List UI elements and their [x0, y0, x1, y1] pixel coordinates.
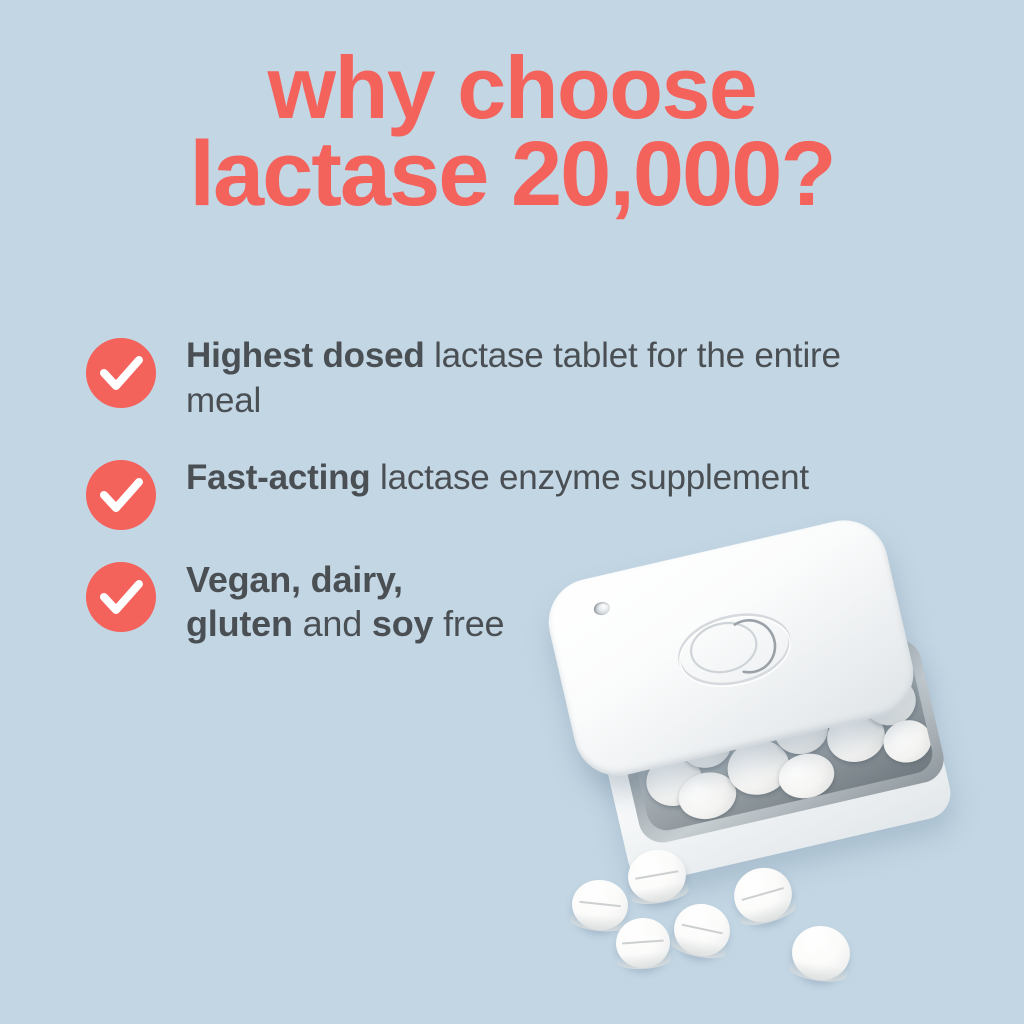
headline-line-2: lactase 20,000?	[0, 130, 1024, 218]
tablet	[728, 861, 799, 929]
check-circle-icon	[86, 338, 156, 408]
benefit-text: Vegan, dairy, gluten and soy free	[186, 554, 516, 646]
benefit-bold-lead: Highest dosed	[186, 336, 425, 375]
benefit-text: Fast-acting lactase enzyme supplement	[186, 452, 906, 501]
product-image	[548, 528, 1024, 1024]
benefit-mid: and	[293, 603, 372, 644]
headline-line-1: why choose	[0, 46, 1024, 130]
check-circle-icon	[86, 460, 156, 530]
tablet	[570, 877, 631, 933]
benefit-bold-lead: Fast-acting	[186, 458, 371, 497]
list-item: Highest dosed lactase tablet for the ent…	[86, 330, 946, 424]
benefit-bold-tail: soy	[372, 603, 433, 644]
list-item: Fast-acting lactase enzyme supplement	[86, 452, 946, 530]
benefit-text: Highest dosed lactase tablet for the ent…	[186, 330, 906, 424]
tablet	[669, 899, 735, 962]
check-circle-icon	[86, 562, 156, 632]
benefit-rest: lactase enzyme supplement	[371, 458, 809, 497]
benefit-rest: free	[433, 603, 504, 644]
tablet	[789, 922, 854, 984]
embossed-logo-icon	[658, 591, 810, 707]
poster-canvas: why choose lactase 20,000? Highest dosed…	[0, 0, 1024, 1024]
page-title: why choose lactase 20,000?	[0, 46, 1024, 219]
lid-dimple-icon	[593, 600, 612, 616]
